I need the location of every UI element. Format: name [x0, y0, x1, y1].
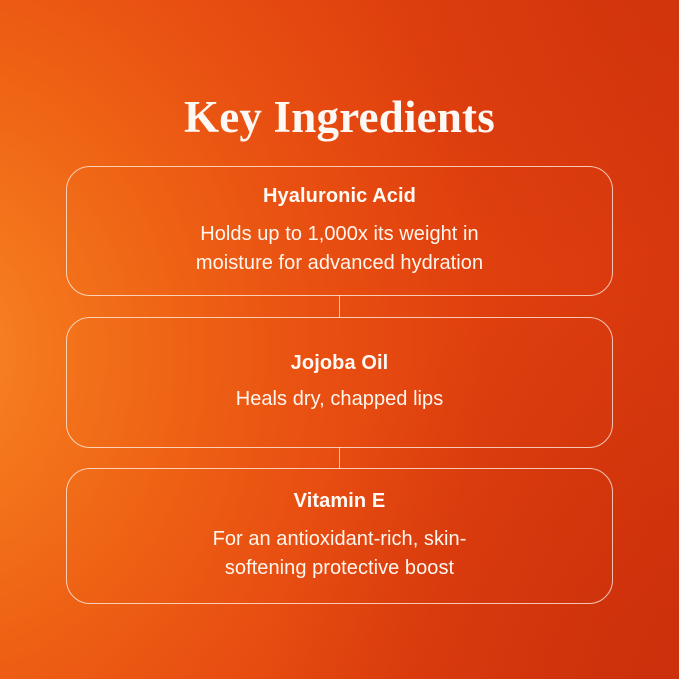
connector-line-2: [339, 447, 340, 469]
ingredient-name: Jojoba Oil: [291, 351, 389, 376]
ingredient-description: Holds up to 1,000x its weight in moistur…: [196, 220, 483, 278]
ingredient-card-hyaluronic-acid: Hyaluronic Acid Holds up to 1,000x its w…: [66, 166, 613, 296]
page-title: Key Ingredients: [0, 89, 679, 145]
ingredient-card-vitamin-e: Vitamin E For an antioxidant-rich, skin-…: [66, 468, 613, 604]
ingredient-description: Heals dry, chapped lips: [236, 385, 444, 414]
ingredient-description: For an antioxidant-rich, skin- softening…: [213, 525, 467, 583]
ingredient-card-jojoba-oil: Jojoba Oil Heals dry, chapped lips: [66, 317, 613, 448]
ingredient-name: Hyaluronic Acid: [263, 184, 416, 209]
poster-content: Key Ingredients Hyaluronic Acid Holds up…: [0, 0, 679, 679]
connector-line-1: [339, 295, 340, 318]
ingredients-poster: Key Ingredients Hyaluronic Acid Holds up…: [0, 0, 679, 679]
ingredient-name: Vitamin E: [294, 489, 386, 514]
